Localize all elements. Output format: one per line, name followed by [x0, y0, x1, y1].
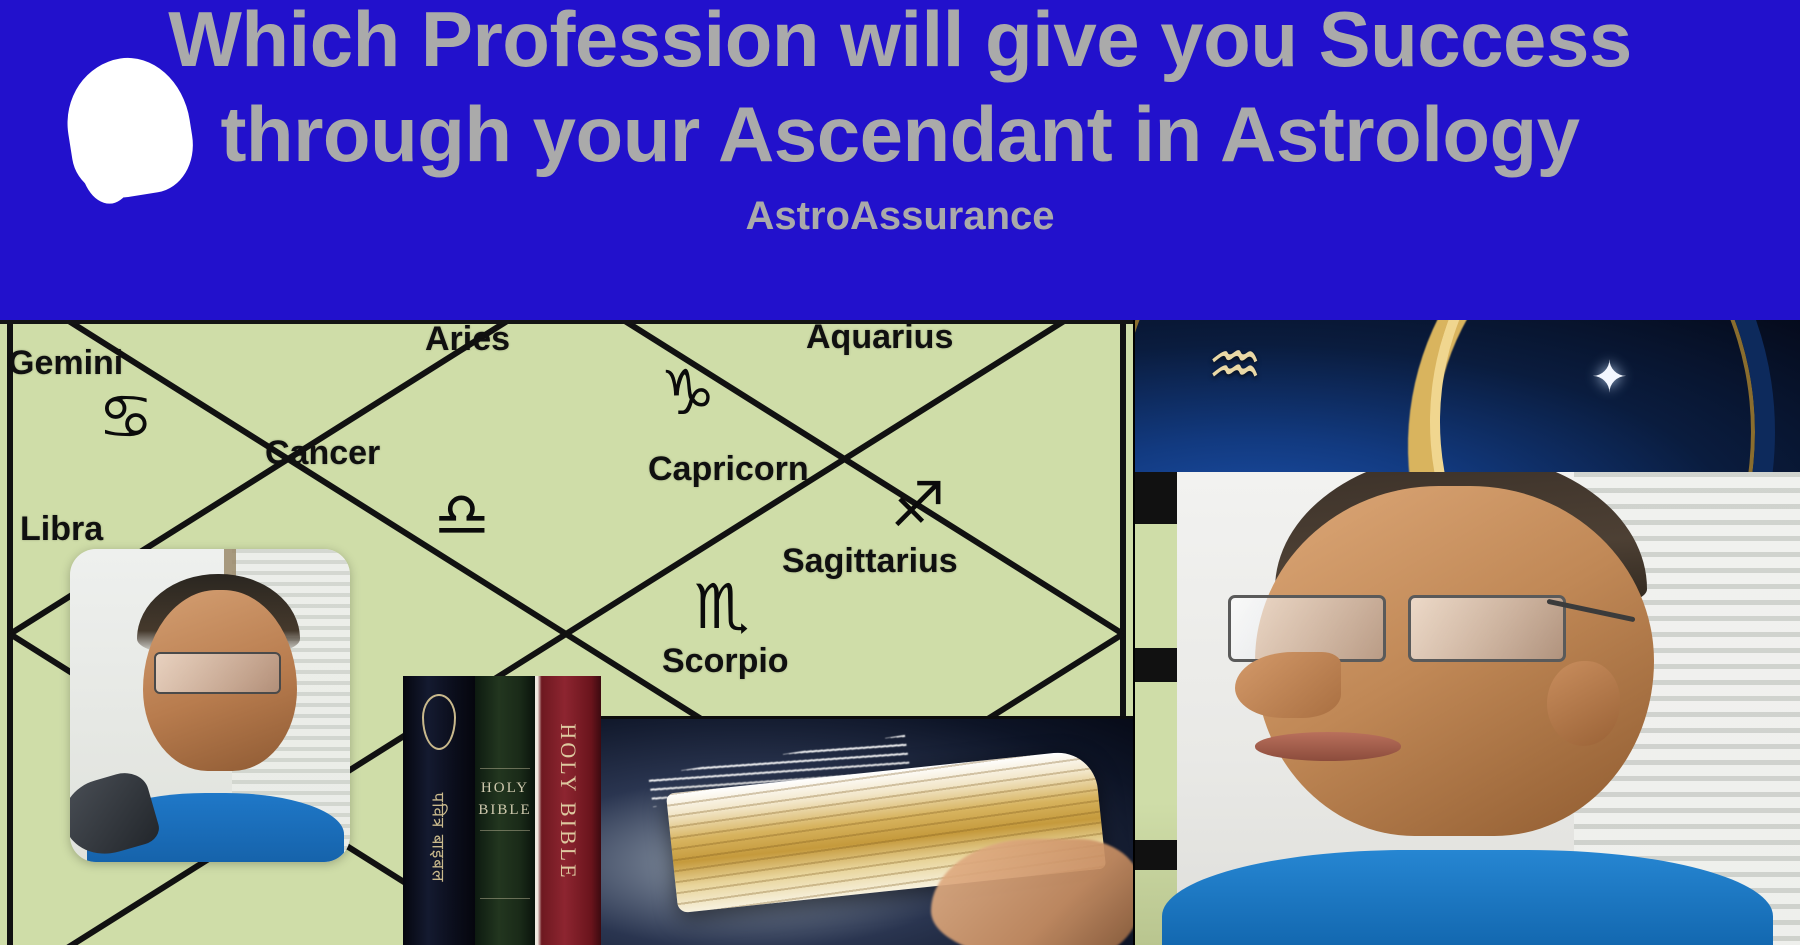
- channel-subtitle: AstroAssurance: [0, 192, 1800, 240]
- webcam-inset-video[interactable]: [70, 549, 350, 862]
- video-frame: Which Profession will give you Success t…: [0, 0, 1800, 945]
- capricorn-icon: ♑: [660, 362, 716, 424]
- chart-label-sagittarius: Sagittarius: [782, 542, 958, 581]
- wheel-aquarius-figure-icon: ♒: [1207, 334, 1263, 396]
- edge-sliver-dark-mid: [1135, 648, 1177, 682]
- chart-label-scorpio: Scorpio: [662, 642, 789, 681]
- inset-person-glasses: [154, 652, 281, 694]
- holy-books-photo: पवित्र बाइबल HOLY BIBLE HOLY BIBLE: [403, 676, 601, 945]
- book-spine-green: HOLY BIBLE: [475, 676, 535, 945]
- chart-label-aquarius: Aquarius: [806, 320, 953, 357]
- presenter-video[interactable]: [1135, 472, 1800, 945]
- book-spine-navy: पवित्र बाइबल: [403, 676, 475, 945]
- vedic-astrology-chart: Gemini Aries Aquarius Cancer Capricorn L…: [0, 320, 1133, 945]
- chart-label-capricorn: Capricorn: [648, 450, 809, 489]
- libra-icon: ♎: [434, 484, 490, 546]
- chart-edge-sliver: [1135, 472, 1177, 945]
- sagittarius-icon: ♐: [890, 474, 946, 536]
- open-book-photo: [601, 716, 1133, 945]
- gemini-icon: ♊: [24, 320, 69, 322]
- page-title-line-1: Which Profession will give you Success: [0, 0, 1800, 87]
- chart-label-gemini: Gemini: [8, 344, 123, 383]
- book-spine-green-line-2: BIBLE: [475, 802, 535, 819]
- title-block: Which Profession will give you Success t…: [0, 0, 1800, 240]
- glasses-right-lens: [1408, 595, 1566, 662]
- title-banner: Which Profession will give you Success t…: [0, 0, 1800, 320]
- edge-sliver-dark-low: [1135, 840, 1177, 870]
- scorpio-icon: ♏: [694, 576, 750, 638]
- presenter-glasses: [1228, 595, 1574, 656]
- zodiac-clock-image: JANUARY FEBRUARY ♒ ✦: [1135, 320, 1800, 472]
- chart-label-libra: Libra: [20, 510, 103, 549]
- book-spine-red-text: HOLY BIBLE: [555, 723, 581, 880]
- presenter-shirt: [1162, 850, 1774, 945]
- book-spine-red: HOLY BIBLE: [535, 676, 601, 945]
- page-title-line-2: through your Ascendant in Astrology: [0, 87, 1800, 182]
- chart-label-aries: Aries: [425, 320, 510, 359]
- book-spine-script-text: पवित्र बाइबल: [428, 793, 451, 883]
- chart-label-cancer: Cancer: [265, 434, 380, 473]
- edge-sliver-dark-top: [1135, 472, 1177, 524]
- book-spine-green-line-1: HOLY: [475, 780, 535, 797]
- content-area: Gemini Aries Aquarius Cancer Capricorn L…: [0, 320, 1800, 945]
- presenter-lips: [1255, 732, 1401, 760]
- cancer-icon: ♋: [98, 386, 154, 448]
- ichthys-fish-icon: [422, 694, 456, 750]
